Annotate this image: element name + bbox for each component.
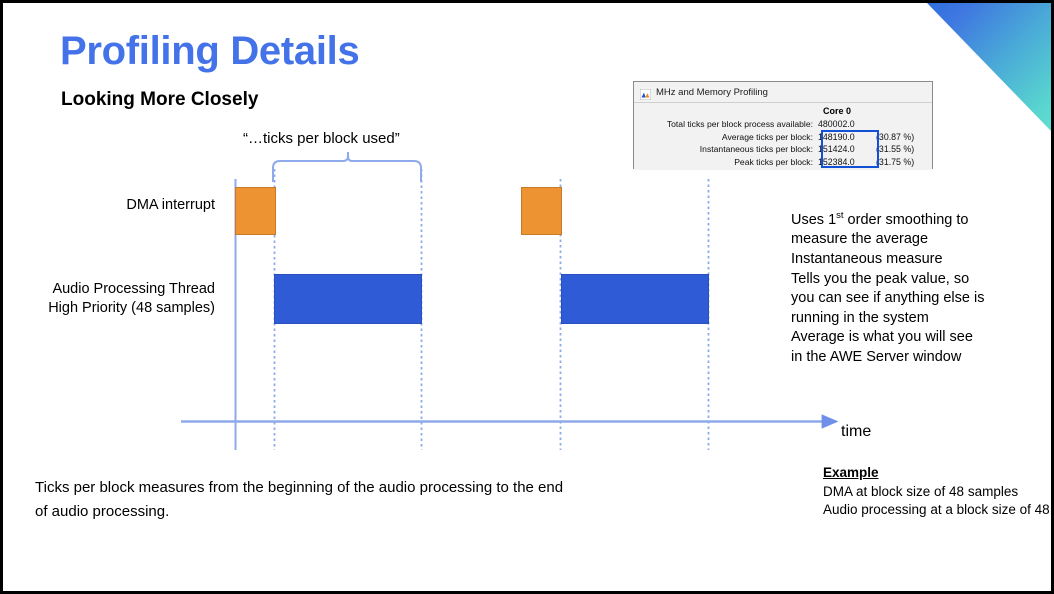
note-line-2: Instantaneous measure: [791, 251, 943, 267]
lane-label-audio-line2: High Priority (48 samples): [48, 300, 215, 316]
row-label: Instantaneous ticks per block:: [634, 143, 818, 156]
dialog-title-text: MHz and Memory Profiling: [656, 87, 768, 98]
dialog-row: Total ticks per block process available:…: [634, 118, 932, 131]
note-line-1: measure the average: [791, 231, 928, 247]
row-value: 151424.0: [818, 143, 876, 156]
row-label: Average ticks per block:: [634, 131, 818, 144]
note-line-5: running in the system: [791, 310, 929, 326]
brace-right: [348, 152, 421, 182]
corner-gradient-triangle: [927, 3, 1051, 131]
row-value: 480002.0: [818, 118, 876, 131]
dialog-column-header: Core 0: [823, 105, 932, 118]
dialog-body: Core 0 Total ticks per block process ava…: [634, 103, 932, 170]
profiling-dialog: MHz and Memory Profiling Core 0 Total ti…: [633, 81, 933, 169]
lane-label-audio: Audio Processing Thread High Priority (4…: [3, 280, 215, 318]
row-value: 152384.0: [818, 156, 876, 169]
note-line-3: Tells you the peak value, so: [791, 271, 969, 287]
dialog-row: Peak ticks per block: 152384.0 (31.75 %): [634, 156, 932, 169]
audio-processing-block-1: [274, 274, 422, 324]
lane-label-audio-line1: Audio Processing Thread: [52, 281, 215, 297]
slide-canvas: Profiling Details Looking More Closely M…: [0, 0, 1054, 594]
row-label: Total ticks per block process available:: [634, 118, 818, 131]
example-line-0: DMA at block size of 48 samples: [823, 483, 1053, 502]
row-percent: (31.55 %): [876, 143, 914, 156]
note-line-6: Average is what you will see: [791, 329, 973, 345]
note-line-7: in the AWE Server window: [791, 349, 961, 365]
time-axis-label: time: [841, 423, 871, 441]
brace-left: [273, 152, 348, 182]
dialog-row: Instantaneous ticks per block: 151424.0 …: [634, 143, 932, 156]
example-block: Example DMA at block size of 48 samples …: [823, 464, 1053, 520]
note-line-0: Uses 1st order smoothing to: [791, 212, 968, 228]
row-percent: (31.75 %): [876, 156, 914, 169]
note-line-4: you can see if anything else is: [791, 290, 984, 306]
brace-caption: “…ticks per block used”: [243, 130, 400, 147]
example-heading: Example: [823, 464, 1053, 483]
example-line-1: Audio processing at a block size of 48: [823, 501, 1053, 520]
dma-interrupt-block-2: [521, 187, 562, 235]
dma-interrupt-block-1: [235, 187, 276, 235]
dialog-row: Average ticks per block: 148190.0 (30.87…: [634, 131, 932, 144]
row-label: Peak ticks per block:: [634, 156, 818, 169]
page-subtitle: Looking More Closely: [61, 89, 258, 111]
row-percent: (30.87 %): [876, 131, 914, 144]
audio-processing-block-2: [561, 274, 709, 324]
dialog-titlebar: MHz and Memory Profiling: [634, 82, 932, 103]
notes-block: Uses 1st order smoothing to measure the …: [791, 206, 1041, 368]
chart-app-icon: [640, 87, 651, 98]
footer-note: Ticks per block measures from the beginn…: [35, 476, 575, 524]
page-title: Profiling Details: [60, 29, 359, 74]
row-value: 148190.0: [818, 131, 876, 144]
lane-label-dma: DMA interrupt: [3, 197, 215, 213]
